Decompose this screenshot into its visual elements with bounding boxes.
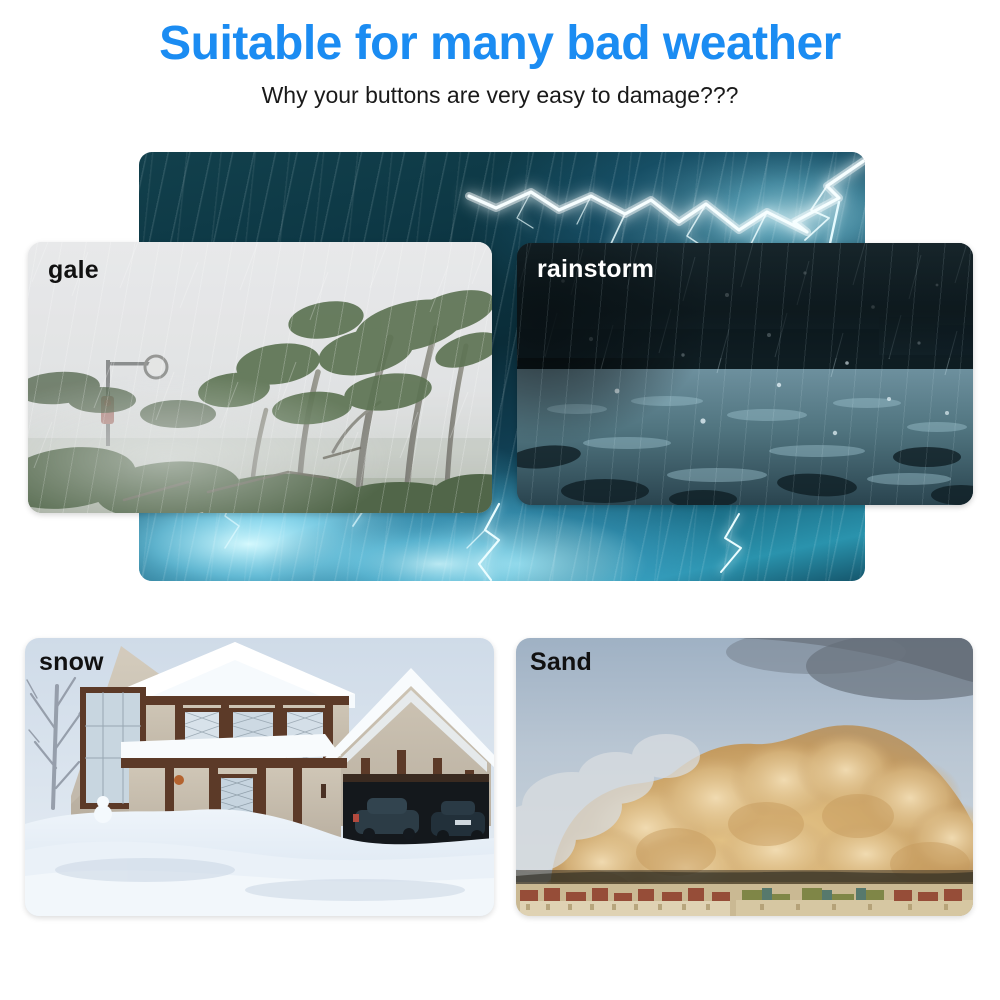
card-label-sand: Sand [530,648,592,677]
sandstorm-scene-illustration [516,638,973,916]
weather-card-rainstorm[interactable]: rainstorm [517,243,973,505]
card-label-snow: snow [39,648,104,677]
weather-card-gale[interactable]: gale [28,242,492,513]
page-subtitle: Why your buttons are very easy to damage… [0,82,1000,109]
card-label-gale: gale [48,256,99,285]
weather-card-snow[interactable]: snow [25,638,494,916]
card-label-rainstorm: rainstorm [537,255,654,284]
snow-scene-illustration [25,638,494,916]
weather-card-sand[interactable]: Sand [516,638,973,916]
page-title: Suitable for many bad weather [0,16,1000,71]
weather-feature-page: Suitable for many bad weather Why your b… [0,0,1000,1000]
